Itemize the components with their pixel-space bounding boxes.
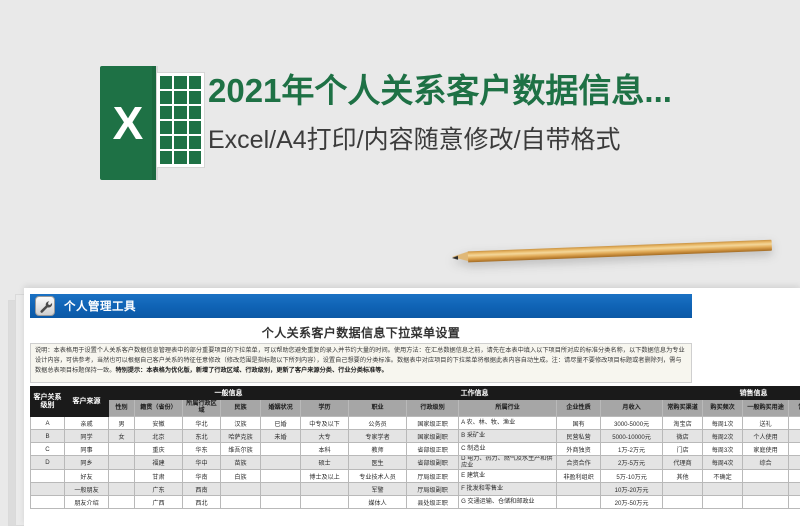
table-cell[interactable] xyxy=(109,470,135,483)
screenshot-root: X 2021年个人关系客户数据信息... Excel/A4打印/内容随意修改/自… xyxy=(0,0,800,526)
table-cell[interactable]: 国家级正职 xyxy=(407,417,459,430)
tool-banner-label: 个人管理工具 xyxy=(64,298,136,314)
table-cell[interactable]: A xyxy=(31,417,65,430)
dropdown-settings-table-wrapper: 客户关系级别 客户来源 一般信息 工作信息 销售信息 性别 籍贯（省份） 所属行… xyxy=(30,386,798,509)
table-cell[interactable] xyxy=(31,496,65,509)
col-header-customer-source: 客户来源 xyxy=(65,387,109,417)
table-cell[interactable]: 东北 xyxy=(183,430,221,443)
group-header-row: 客户关系级别 客户来源 一般信息 工作信息 销售信息 xyxy=(31,387,800,400)
table-cell[interactable] xyxy=(261,443,301,456)
table-cell[interactable]: 支付宝 xyxy=(789,483,800,496)
group-header-sales: 销售信息 xyxy=(663,387,800,400)
table-cell[interactable]: 民营私营 xyxy=(557,430,601,443)
table-cell[interactable]: 华中 xyxy=(183,456,221,470)
table-cell[interactable]: 西南 xyxy=(183,483,221,496)
table-cell[interactable]: 其他 xyxy=(663,470,703,483)
table-cell[interactable]: 广东 xyxy=(135,483,183,496)
table-cell[interactable] xyxy=(301,483,349,496)
table-cell[interactable] xyxy=(743,470,789,483)
table-row[interactable]: 一般朋友广东西南军警厅局级副职F 批发和零售业10万-20万元支付宝 xyxy=(31,483,800,496)
table-cell[interactable]: 综合 xyxy=(743,456,789,470)
table-cell[interactable] xyxy=(109,443,135,456)
table-cell[interactable]: 博士及以上 xyxy=(301,470,349,483)
table-cell[interactable]: D xyxy=(31,456,65,470)
table-cell[interactable]: 苗族 xyxy=(221,456,261,470)
table-cell[interactable]: 亲戚 xyxy=(65,417,109,430)
pencil-lead xyxy=(452,255,458,259)
table-cell[interactable]: 省部级副职 xyxy=(407,456,459,470)
table-body: A亲戚男安徽华北汉族已婚中专及以下公务员国家级正职A 农、林、牧、渔业国有300… xyxy=(31,417,800,509)
table-cell[interactable]: 国家级副职 xyxy=(407,430,459,443)
table-cell[interactable]: 同事 xyxy=(65,443,109,456)
group-header-blank xyxy=(601,387,663,400)
table-cell[interactable]: 国有 xyxy=(557,417,601,430)
table-cell[interactable]: 安徽 xyxy=(135,417,183,430)
table-cell[interactable]: 10万-20万元 xyxy=(601,483,663,496)
col-header-marital-status: 婚姻状况 xyxy=(261,400,301,417)
table-cell[interactable]: 中专及以下 xyxy=(301,417,349,430)
table-cell[interactable]: G 交通运输、仓储和邮政业 xyxy=(459,496,557,509)
table-cell[interactable]: 重庆 xyxy=(135,443,183,456)
excel-logo-grid xyxy=(156,72,205,168)
col-header-purchase-frequency: 购买频次 xyxy=(703,400,743,417)
table-cell[interactable]: 外商独资 xyxy=(557,443,601,456)
table-cell[interactable]: 男 xyxy=(109,417,135,430)
table-cell[interactable]: 非盈利组织 xyxy=(557,470,601,483)
table-cell[interactable]: 每周3次 xyxy=(703,443,743,456)
table-cell[interactable]: 福建 xyxy=(135,456,183,470)
table-cell[interactable] xyxy=(109,496,135,509)
table-cell[interactable]: C xyxy=(31,443,65,456)
pencil-decoration xyxy=(452,240,772,263)
table-cell[interactable]: 厅局级正职 xyxy=(407,470,459,483)
spreadsheet-preview: 个人管理工具 个人关系客户数据信息下拉菜单设置 说明：本表格用于设置个人关系客户… xyxy=(24,288,800,526)
table-cell[interactable] xyxy=(743,483,789,496)
pencil-body xyxy=(468,240,772,263)
table-cell[interactable] xyxy=(261,483,301,496)
table-cell[interactable]: 医生 xyxy=(349,456,407,470)
table-cell[interactable]: 维吾尔族 xyxy=(221,443,261,456)
table-row[interactable]: D同乡福建华中苗族硕士医生省部级副职D 电力、热力、燃气及水生产和供应业合资合作… xyxy=(31,456,800,470)
banner-subtitle: Excel/A4打印/内容随意修改/自带格式 xyxy=(208,126,788,155)
table-cell[interactable]: 网络 xyxy=(789,417,800,430)
table-cell[interactable] xyxy=(663,496,703,509)
table-cell[interactable]: 门店 xyxy=(663,443,703,456)
table-cell[interactable]: 每周4次 xyxy=(703,456,743,470)
table-cell[interactable]: 微店 xyxy=(663,430,703,443)
column-header-row: 性别 籍贯（省份） 所属行政区域 民族 婚姻状况 学历 职业 行政级别 所属行业… xyxy=(31,400,800,417)
table-cell[interactable]: B 采矿业 xyxy=(459,430,557,443)
table-cell[interactable] xyxy=(221,496,261,509)
table-cell[interactable]: 未婚 xyxy=(261,430,301,443)
table-cell[interactable]: 县处级正职 xyxy=(407,496,459,509)
table-cell[interactable] xyxy=(261,496,301,509)
table-cell[interactable] xyxy=(743,496,789,509)
table-cell[interactable] xyxy=(703,496,743,509)
tool-banner[interactable]: 个人管理工具 xyxy=(30,294,692,318)
table-cell[interactable]: 现金 xyxy=(789,430,800,443)
table-cell[interactable]: F 批发和零售业 xyxy=(459,483,557,496)
table-cell[interactable]: 朋友介绍 xyxy=(65,496,109,509)
table-cell[interactable]: 省部级正职 xyxy=(407,443,459,456)
table-cell[interactable]: D 电力、热力、燃气及水生产和供应业 xyxy=(459,456,557,470)
table-cell[interactable] xyxy=(557,496,601,509)
table-row[interactable]: 朋友介绍广西西北媒体人县处级正职G 交通运输、仓储和邮政业20万-50万元 xyxy=(31,496,800,509)
excel-logo-letter: X xyxy=(100,100,156,146)
table-cell[interactable]: 不确定 xyxy=(703,470,743,483)
table-cell[interactable] xyxy=(663,483,703,496)
col-header-admin-region: 所属行政区域 xyxy=(183,400,221,417)
table-row[interactable]: C同事重庆华东维吾尔族本科教师省部级正职C 制造业外商独资1万-2万元门店每周3… xyxy=(31,443,800,456)
table-cell[interactable]: 已婚 xyxy=(261,417,301,430)
table-row[interactable]: 好友甘肃华南白族博士及以上专业技术人员厅局级正职E 建筑业非盈利组织5万-10万… xyxy=(31,470,800,483)
table-cell[interactable]: 汉族 xyxy=(221,417,261,430)
table-cell[interactable]: 甘肃 xyxy=(135,470,183,483)
table-cell[interactable]: 厅局级副职 xyxy=(407,483,459,496)
table-cell[interactable]: 2万-5万元 xyxy=(601,456,663,470)
table-cell[interactable]: 公务员 xyxy=(349,417,407,430)
table-cell[interactable]: 同学 xyxy=(65,430,109,443)
wrench-icon[interactable] xyxy=(35,296,55,316)
table-cell[interactable] xyxy=(109,483,135,496)
table-row[interactable]: A亲戚男安徽华北汉族已婚中专及以下公务员国家级正职A 农、林、牧、渔业国有300… xyxy=(31,417,800,430)
excel-logo-icon: X xyxy=(100,66,205,180)
table-cell[interactable]: 华北 xyxy=(183,417,221,430)
table-cell[interactable]: 3000-5000元 xyxy=(601,417,663,430)
document-title: 个人关系客户数据信息下拉菜单设置 xyxy=(30,324,692,341)
table-cell[interactable]: 大专 xyxy=(301,430,349,443)
col-header-monthly-income: 月收入 xyxy=(601,400,663,417)
table-cell[interactable] xyxy=(703,483,743,496)
table-cell[interactable]: 5000-10000元 xyxy=(601,430,663,443)
table-cell[interactable]: C 制造业 xyxy=(459,443,557,456)
table-cell[interactable]: 硕士 xyxy=(301,456,349,470)
table-cell[interactable]: B xyxy=(31,430,65,443)
table-cell[interactable] xyxy=(31,470,65,483)
table-cell[interactable] xyxy=(789,496,800,509)
col-header-ethnicity: 民族 xyxy=(221,400,261,417)
group-header-general: 一般信息 xyxy=(109,387,349,400)
table-cell[interactable]: 华南 xyxy=(183,470,221,483)
table-cell[interactable]: 每周1次 xyxy=(703,417,743,430)
table-cell[interactable] xyxy=(261,456,301,470)
col-header-relationship-level: 客户关系级别 xyxy=(31,387,65,417)
table-cell[interactable]: 一般朋友 xyxy=(65,483,109,496)
table-cell[interactable]: 5万-10万元 xyxy=(601,470,663,483)
table-cell[interactable]: 西北 xyxy=(183,496,221,509)
table-cell[interactable]: 专家学者 xyxy=(349,430,407,443)
table-cell[interactable]: 储蓄卡 xyxy=(789,456,800,470)
table-cell[interactable]: 女 xyxy=(109,430,135,443)
col-header-purchase-channel: 常购买渠道 xyxy=(663,400,703,417)
table-cell[interactable] xyxy=(221,483,261,496)
col-header-education: 学历 xyxy=(301,400,349,417)
instructions-note: 说明：本表格用于设置个人关系客户数据信息管理表中的部分重要项目的下拉菜单，可以帮… xyxy=(30,343,692,383)
table-cell[interactable]: 媒体人 xyxy=(349,496,407,509)
promo-banner: X 2021年个人关系客户数据信息... Excel/A4打印/内容随意修改/自… xyxy=(0,0,800,226)
table-cell[interactable]: 专业技术人员 xyxy=(349,470,407,483)
table-cell[interactable]: 广西 xyxy=(135,496,183,509)
table-cell[interactable]: 淘宝店 xyxy=(663,417,703,430)
dropdown-settings-table: 客户关系级别 客户来源 一般信息 工作信息 销售信息 性别 籍贯（省份） 所属行… xyxy=(30,386,800,509)
table-cell[interactable] xyxy=(109,456,135,470)
table-cell[interactable]: 代理商 xyxy=(663,456,703,470)
col-header-enterprise-type: 企业性质 xyxy=(557,400,601,417)
table-cell[interactable]: 送礼 xyxy=(743,417,789,430)
group-header-work: 工作信息 xyxy=(349,387,601,400)
table-cell[interactable]: 北京 xyxy=(135,430,183,443)
col-header-admin-rank: 行政级别 xyxy=(407,400,459,417)
banner-title: 2021年个人关系客户数据信息... xyxy=(208,72,778,110)
table-cell[interactable]: 信用卡 xyxy=(789,443,800,456)
col-header-gender: 性别 xyxy=(109,400,135,417)
table-cell[interactable] xyxy=(301,496,349,509)
table-cell[interactable]: 个人使用 xyxy=(743,430,789,443)
table-cell[interactable]: 军警 xyxy=(349,483,407,496)
table-cell[interactable]: 本科 xyxy=(301,443,349,456)
table-cell[interactable]: 华东 xyxy=(183,443,221,456)
table-cell[interactable]: 同乡 xyxy=(65,456,109,470)
table-cell[interactable]: 合资合作 xyxy=(557,456,601,470)
table-cell[interactable]: 教师 xyxy=(349,443,407,456)
col-header-industry: 所属行业 xyxy=(459,400,557,417)
col-header-purchase-purpose: 一般购买用途 xyxy=(743,400,789,417)
table-cell[interactable]: E 建筑业 xyxy=(459,470,557,483)
table-row[interactable]: B同学女北京东北哈萨克族未婚大专专家学者国家级副职B 采矿业民营私营5000-1… xyxy=(31,430,800,443)
instructions-highlight: 本表格为优化版，新增了行政区域、行政级别，更新了客户来源分类、行业分类标准等。 xyxy=(146,367,387,374)
table-cell[interactable]: 1万-2万元 xyxy=(601,443,663,456)
table-cell[interactable] xyxy=(261,470,301,483)
col-header-payment-method: 常用支付方式 xyxy=(789,400,800,417)
table-cell[interactable]: 手机微信 xyxy=(789,470,800,483)
table-cell[interactable]: 好友 xyxy=(65,470,109,483)
excel-logo-leaf: X xyxy=(100,66,156,180)
table-cell[interactable]: 家庭使用 xyxy=(743,443,789,456)
table-cell[interactable]: 每周2次 xyxy=(703,430,743,443)
table-cell[interactable]: 20万-50万元 xyxy=(601,496,663,509)
table-cell[interactable] xyxy=(557,483,601,496)
col-header-hometown: 籍贯（省份） xyxy=(135,400,183,417)
table-cell[interactable]: A 农、林、牧、渔业 xyxy=(459,417,557,430)
table-cell[interactable]: 哈萨克族 xyxy=(221,430,261,443)
table-head: 客户关系级别 客户来源 一般信息 工作信息 销售信息 性别 籍贯（省份） 所属行… xyxy=(31,387,800,417)
col-header-occupation: 职业 xyxy=(349,400,407,417)
table-cell[interactable]: 白族 xyxy=(221,470,261,483)
table-cell[interactable] xyxy=(31,483,65,496)
instructions-highlight-lead: 特别提示： xyxy=(115,367,146,374)
